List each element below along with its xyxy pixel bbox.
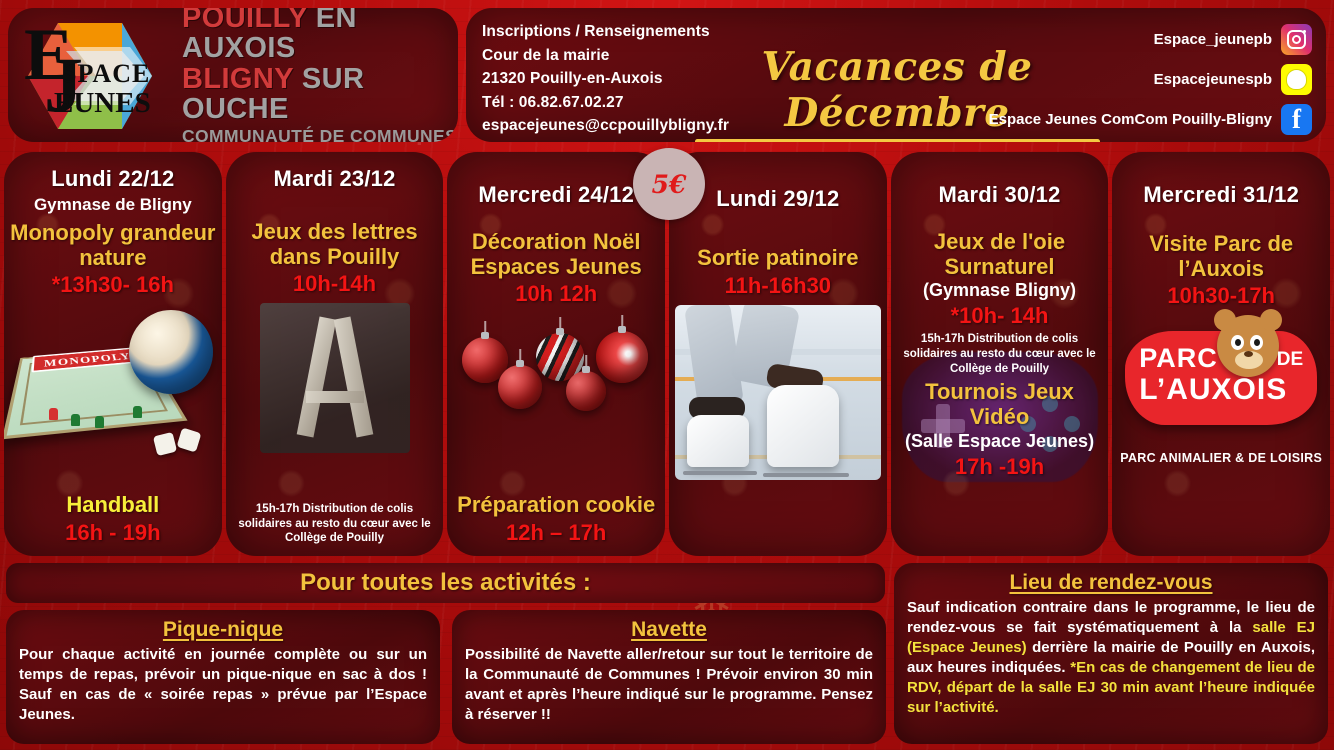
social-facebook[interactable]: Espace Jeunes ComCom Pouilly-Bligny f (932, 102, 1312, 136)
day-cards: Lundi 22/12 Gymnase de Bligny Monopoly g… (0, 152, 1334, 556)
day-card-lundi-29-12[interactable]: 5€ Lundi 29/12 Sortie patinoire 11h-16h3… (669, 152, 887, 556)
info-box-lieu-rendez-vous: Lieu de rendez-vous Sauf indication cont… (894, 563, 1328, 744)
day-activity: Décoration Noël Espaces Jeunes (453, 230, 659, 279)
facebook-icon[interactable]: f (1281, 104, 1312, 135)
snapchat-handle: Espacejeunespb (1154, 71, 1272, 88)
day-location: (Gymnase Bligny) (897, 280, 1103, 301)
snapchat-icon[interactable] (1281, 64, 1312, 95)
day-activity: Monopoly grandeur nature (10, 221, 216, 270)
organisation-panel: E J SPACE EUNES POUILLY EN AUXOIS BLIGNY… (8, 8, 458, 142)
day-time: 10h30-17h (1118, 283, 1324, 309)
day-activity-2: Préparation cookie (453, 493, 659, 518)
parc-logo-word-de: DE (1277, 349, 1303, 371)
ice-skates-photo (675, 305, 881, 480)
navette-body: Possibilité de Navette aller/retour sur … (465, 645, 873, 725)
price-badge-value: 5€ (652, 170, 687, 199)
day-note: 15h-17h Distribution de colis solidaires… (232, 502, 438, 546)
contact-line-1: Inscriptions / Renseignements (482, 20, 729, 44)
activities-banner-label: Pour toutes les activités : (300, 569, 591, 597)
info-panel: Inscriptions / Renseignements Cour de la… (466, 8, 1326, 142)
info-box-navette: Navette Possibilité de Navette aller/ret… (452, 610, 886, 744)
org-line2-red: BLIGNY (182, 63, 293, 95)
day-time-2: 16h - 19h (10, 520, 216, 546)
day-location-2: (Salle Espace Jeunes) (897, 431, 1103, 452)
monopoly-football-photo: MONOPOLY (13, 304, 213, 454)
espace-jeunes-logo-icon: E J SPACE EUNES (18, 15, 168, 135)
day-activity: Visite Parc de l’Auxois (1118, 232, 1324, 281)
day-card-mercredi-31-12[interactable]: Mercredi 31/12 Visite Parc de l’Auxois 1… (1112, 152, 1330, 556)
parc-logo-tagline: PARC ANIMALIER & DE LOISIRS (1118, 451, 1324, 465)
day-date: Mercredi 31/12 (1118, 182, 1324, 208)
logo-word-jeunes: EUNES (54, 87, 151, 120)
social-links: Espace_jeunepb Espacejeunespb Espace Jeu… (932, 22, 1312, 142)
pique-nique-title: Pique-nique (19, 618, 427, 642)
parc-auxois-logo: PARC DE L’AUXOIS (1125, 313, 1317, 433)
day-time: *10h- 14h (897, 303, 1103, 329)
day-venue: Gymnase de Bligny (10, 195, 216, 215)
day-activity-2: Handball (10, 493, 216, 518)
day-activity: Jeux des lettres dans Pouilly (232, 220, 438, 269)
org-line3: COMMUNAUTÉ DE COMMUNES (182, 126, 458, 142)
day-time-2: 12h – 17h (453, 520, 659, 546)
day-date: Lundi 29/12 (675, 186, 881, 212)
logo-word-space: SPACE (62, 59, 150, 89)
day-date: Mardi 23/12 (232, 166, 438, 192)
org-line1-red: POUILLY (182, 8, 307, 34)
lieu-body: Sauf indication contraire dans le progra… (907, 598, 1315, 718)
day-time: *13h30- 16h (10, 272, 216, 298)
organisation-name: POUILLY EN AUXOIS BLIGNY SUR OUCHE COMMU… (182, 8, 458, 142)
letter-a-photo (260, 303, 410, 453)
activities-banner: Pour toutes les activités : (6, 563, 885, 603)
day-note: 15h-17h Distribution de colis solidaires… (897, 332, 1103, 376)
day-time: 10h 12h (453, 281, 659, 307)
lieu-title: Lieu de rendez-vous (907, 571, 1315, 595)
day-date: Mercredi 24/12 (453, 182, 659, 208)
parc-logo-word-1: PARC (1139, 343, 1218, 374)
social-snapchat[interactable]: Espacejeunespb (932, 62, 1312, 96)
day-time-2: 17h -19h (897, 454, 1103, 480)
day-card-lundi-22-12[interactable]: Lundi 22/12 Gymnase de Bligny Monopoly g… (4, 152, 222, 556)
day-card-mardi-23-12[interactable]: Mardi 23/12 Jeux des lettres dans Pouill… (226, 152, 444, 556)
bear-mascot-icon (1217, 315, 1279, 377)
pique-nique-body: Pour chaque activité en journée complète… (19, 645, 427, 725)
day-activity: Jeux de l'oie Surnaturel (897, 230, 1103, 279)
day-time: 10h-14h (232, 271, 438, 297)
day-activity: Sortie patinoire (675, 246, 881, 271)
instagram-handle: Espace_jeunepb (1154, 31, 1272, 48)
day-time: 11h-16h30 (675, 273, 881, 299)
parc-logo-word-2: L’AUXOIS (1139, 373, 1287, 407)
day-date: Lundi 22/12 (10, 166, 216, 192)
price-badge: 5€ (633, 148, 705, 220)
header: E J SPACE EUNES POUILLY EN AUXOIS BLIGNY… (0, 0, 1334, 150)
social-instagram[interactable]: Espace_jeunepb (932, 22, 1312, 56)
info-box-pique-nique: Pique-nique Pour chaque activité en jour… (6, 610, 440, 744)
facebook-handle: Espace Jeunes ComCom Pouilly-Bligny (989, 111, 1272, 128)
day-card-mardi-30-12[interactable]: Mardi 30/12 Jeux de l'oie Surnaturel (Gy… (891, 152, 1109, 556)
day-date: Mardi 30/12 (897, 182, 1103, 208)
day-activity-2: Tournois Jeux Vidéo (897, 380, 1103, 429)
instagram-icon[interactable] (1281, 24, 1312, 55)
navette-title: Navette (465, 618, 873, 642)
day-card-mercredi-24-12[interactable]: Mercredi 24/12 Décoration Noël Espaces J… (447, 152, 665, 556)
christmas-baubles-photo (456, 313, 656, 443)
